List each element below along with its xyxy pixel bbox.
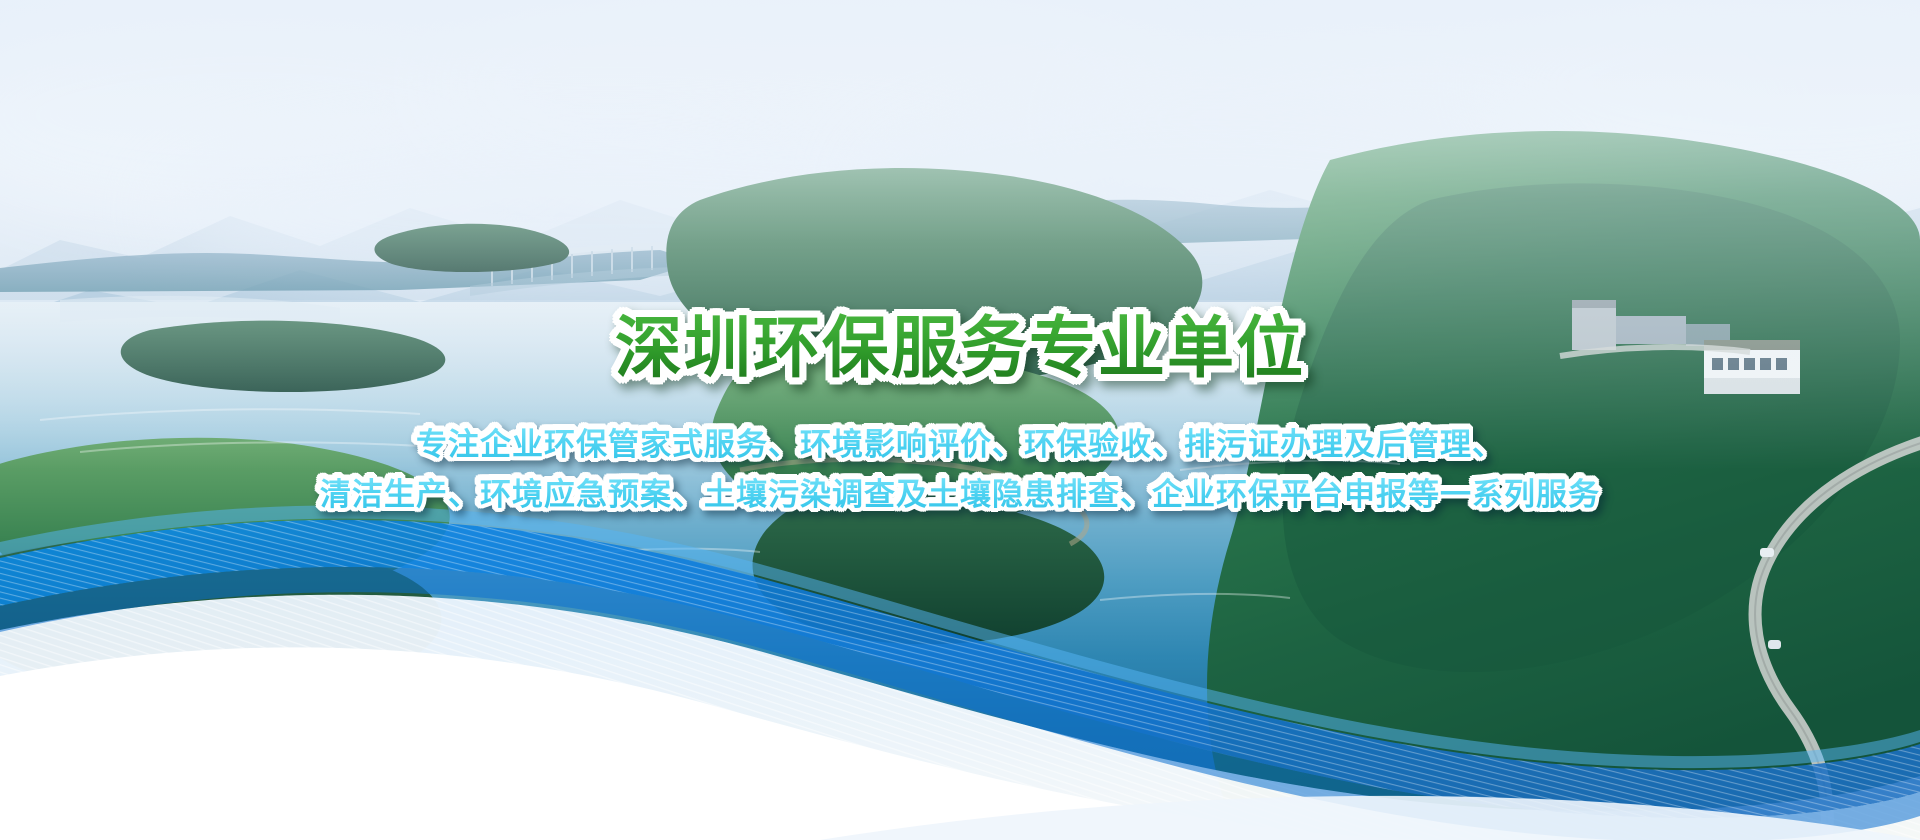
page-title: 深圳环保服务专业单位 [615,313,1305,383]
headline-container: 深圳环保服务专业单位 [0,268,1920,428]
hero-banner: 深圳环保服务专业单位 专注企业环保管家式服务、环境影响评价、环保验收、排污证办理… [0,0,1920,840]
subtitle-line-1: 专注企业环保管家式服务、环境影响评价、环保验收、排污证办理及后管理、 [0,420,1920,470]
wave-ribbon-overlay [0,480,1920,840]
subtitle-line-2: 清洁生产、环境应急预案、土壤污染调查及土壤隐患排查、企业环保平台申报等一系列服务 [0,470,1920,520]
subtitle-container: 专注企业环保管家式服务、环境影响评价、环保验收、排污证办理及后管理、 清洁生产、… [0,420,1920,520]
